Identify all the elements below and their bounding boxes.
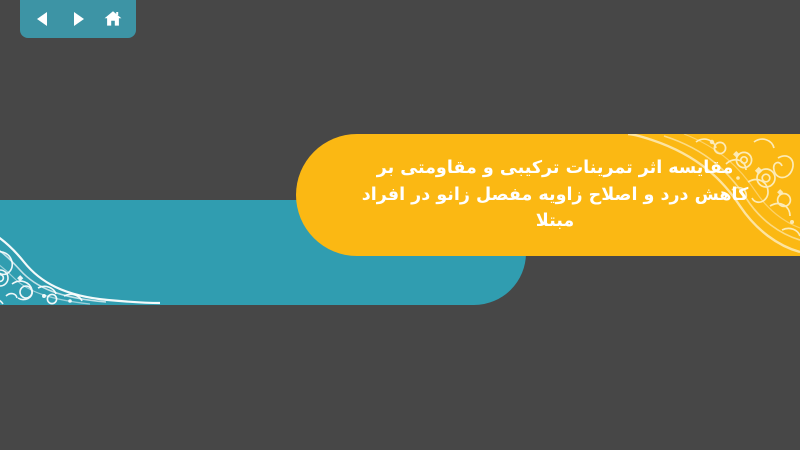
home-icon xyxy=(103,9,123,29)
slide-title: مقایسه اثر تمرینات ترکیبی و مقاومتی بر ک… xyxy=(296,134,800,256)
arabesque-ornament-bottom-left-icon xyxy=(0,200,160,305)
forward-triangle-icon xyxy=(69,10,87,28)
orange-title-banner: مقایسه اثر تمرینات ترکیبی و مقاومتی بر ک… xyxy=(296,134,800,256)
title-line-1: مقایسه اثر تمرینات ترکیبی و مقاومتی بر xyxy=(377,155,734,182)
navigation-bar xyxy=(20,0,136,38)
back-triangle-icon xyxy=(34,10,52,28)
slide-canvas: مقایسه اثر تمرینات ترکیبی و مقاومتی بر ک… xyxy=(0,0,800,450)
home-button[interactable] xyxy=(102,8,124,30)
back-button[interactable] xyxy=(32,8,54,30)
forward-button[interactable] xyxy=(67,8,89,30)
title-line-2: کاهش درد و اصلاح زاویه مفصل زانو در افرا… xyxy=(362,182,749,209)
title-line-3: مبتلا xyxy=(536,208,574,235)
